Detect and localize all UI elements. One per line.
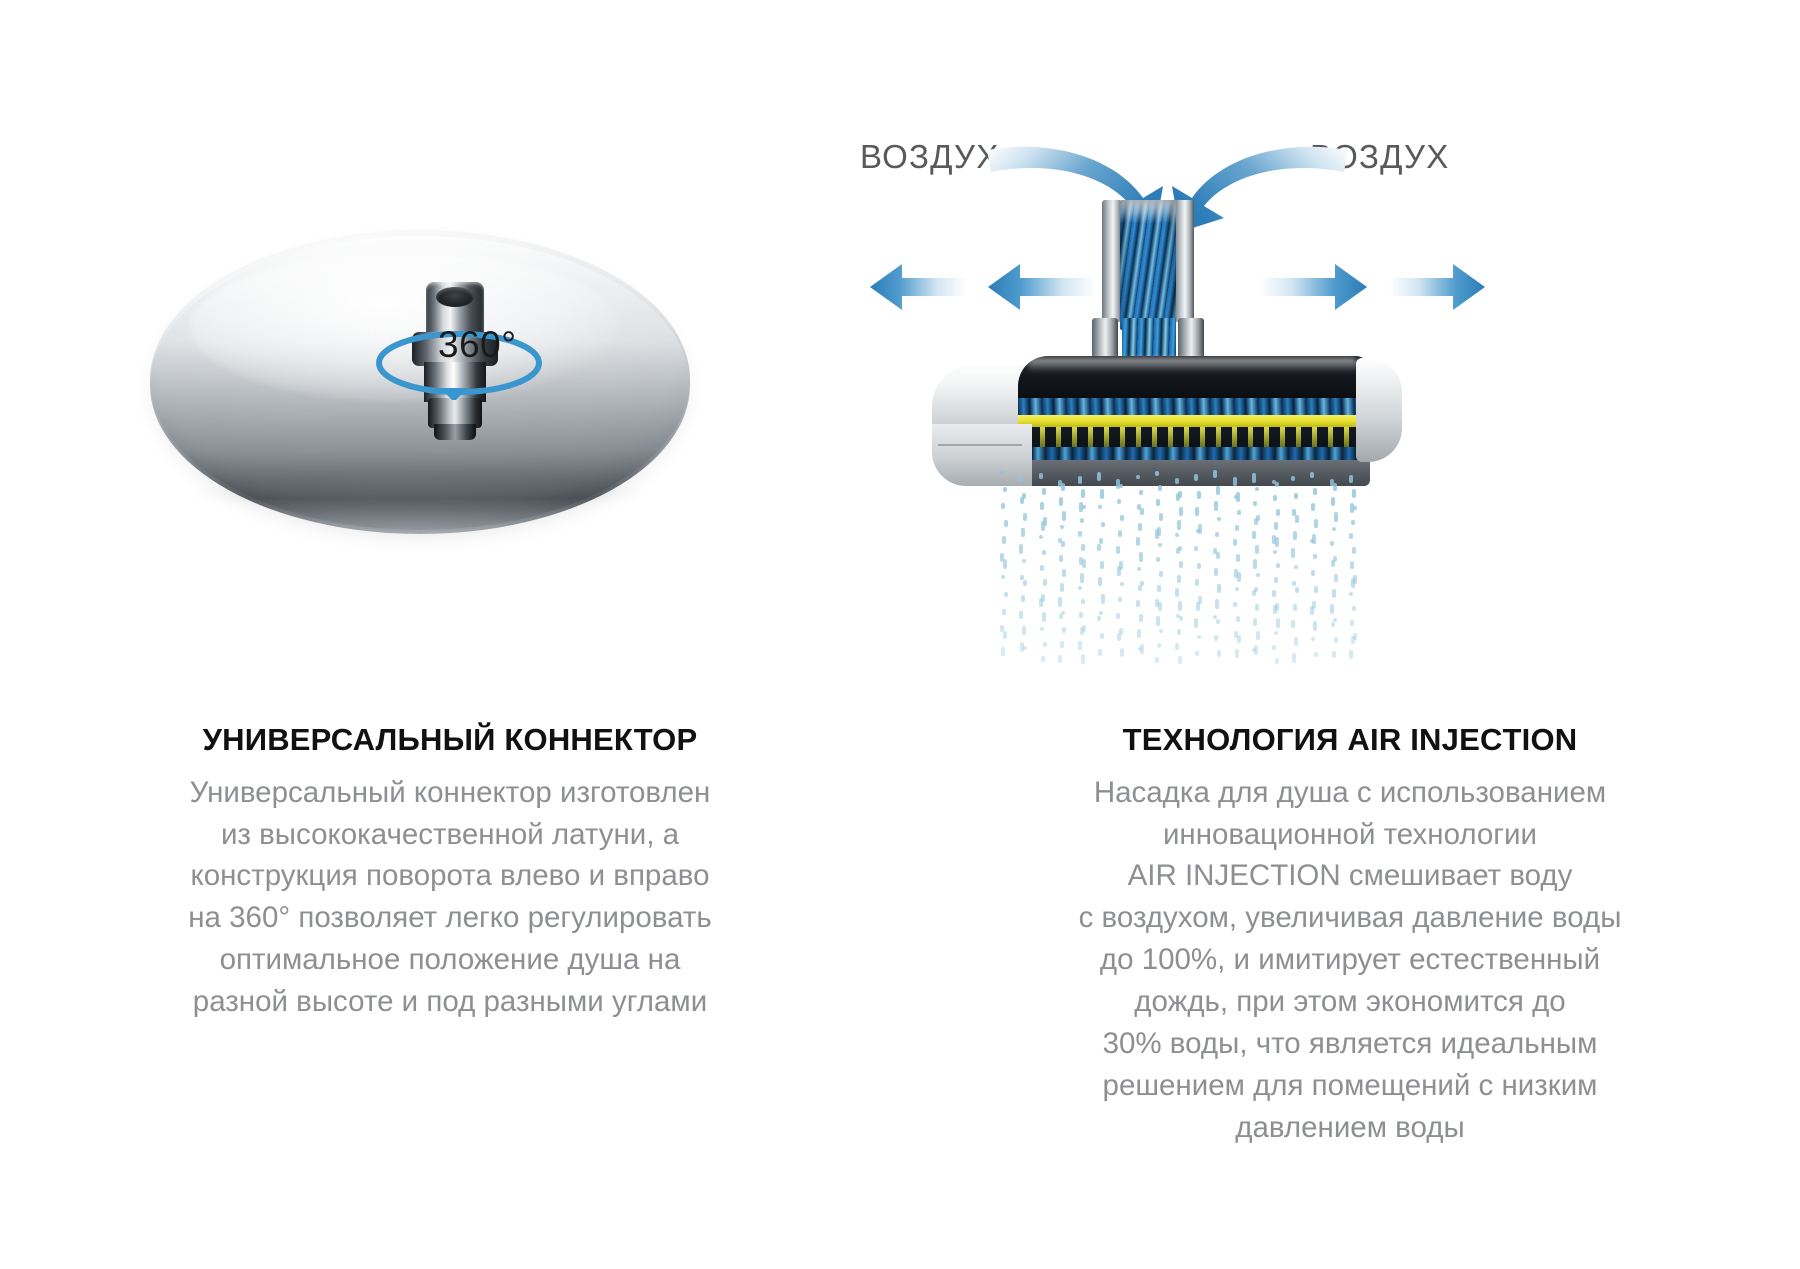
spray-droplet: [1314, 519, 1318, 528]
spray-droplet: [1292, 581, 1296, 586]
riser-water-core: [1120, 200, 1176, 330]
caption-line: разной высоте и под разными углами: [130, 981, 770, 1023]
spray-droplet: [1004, 592, 1008, 597]
spray-droplet: [1020, 497, 1024, 504]
spray-droplet: [1159, 571, 1163, 577]
spray-droplet: [1313, 488, 1317, 495]
spray-column: [1213, 470, 1222, 670]
spray-droplet: [1256, 573, 1260, 577]
spray-droplet: [1291, 476, 1295, 481]
spray-droplet: [1156, 557, 1160, 562]
spray-droplet: [1217, 517, 1221, 521]
spray-droplet: [1252, 473, 1256, 483]
spray-droplet: [1062, 627, 1066, 633]
spray-droplet: [1101, 594, 1105, 604]
spray-droplet: [1331, 622, 1335, 627]
spray-droplet: [1334, 637, 1338, 643]
spray-droplet: [1179, 561, 1183, 568]
spray-droplet: [1157, 585, 1161, 592]
spray-droplet: [1041, 521, 1045, 531]
spray-droplet: [1331, 560, 1335, 567]
spray-droplet: [1274, 577, 1278, 583]
spray-column: [1058, 470, 1067, 670]
spray-droplet: [1213, 470, 1217, 478]
spray-droplet: [1039, 598, 1043, 607]
spray-droplet: [1195, 651, 1199, 656]
spray-droplet: [1216, 486, 1220, 495]
spray-droplet: [1178, 601, 1182, 611]
spray-droplet: [1019, 477, 1023, 482]
spray-droplet: [1021, 528, 1025, 537]
side-arrows-right-icon: [1255, 258, 1485, 321]
spray-droplet: [1294, 493, 1298, 499]
spray-column: [1291, 470, 1300, 670]
spray-droplet: [1194, 618, 1198, 628]
spray-droplet: [1256, 631, 1260, 640]
spray-droplet: [1098, 649, 1102, 656]
spray-droplet: [1081, 544, 1085, 551]
spray-droplet: [1310, 472, 1314, 478]
spray-droplet: [1003, 631, 1007, 639]
spray-droplet: [1139, 552, 1143, 562]
spray-column: [1000, 470, 1009, 670]
spray-droplet: [1255, 604, 1259, 611]
water-spray: [996, 470, 1368, 670]
spray-droplet: [1275, 482, 1279, 487]
spray-droplet: [1351, 520, 1355, 525]
caption-line: инновационной технологии: [1020, 814, 1680, 856]
body-outer-shell-right: [1356, 358, 1402, 462]
caption-line: Насадка для душа с использованием: [1020, 772, 1680, 814]
spray-droplet: [1177, 575, 1181, 583]
spray-droplet: [1352, 606, 1356, 611]
spray-droplet: [1136, 600, 1140, 607]
spray-droplet: [1177, 520, 1181, 530]
caption-line: решением для помещений с низким: [1020, 1065, 1680, 1107]
spray-droplet: [1117, 566, 1121, 576]
spray-droplet: [1078, 476, 1082, 484]
side-arrows-left-icon: [870, 258, 1100, 321]
spray-droplet: [1120, 648, 1124, 657]
spray-droplet: [1060, 525, 1064, 529]
spray-droplet: [1019, 611, 1023, 619]
spray-droplet: [1078, 586, 1082, 590]
spray-droplet: [1059, 614, 1063, 619]
spray-droplet: [1351, 578, 1355, 588]
spray-droplet: [1156, 499, 1160, 506]
spray-droplet: [1177, 629, 1181, 635]
mixing-chamber-riser: [1102, 200, 1194, 358]
spray-droplet: [1332, 651, 1336, 658]
spray-droplet: [1255, 545, 1259, 554]
spray-droplet: [1100, 561, 1104, 569]
spray-droplet: [1061, 483, 1065, 491]
spray-droplet: [1237, 635, 1241, 643]
spray-droplet: [1214, 501, 1218, 511]
spray-droplet: [1080, 627, 1084, 635]
spray-droplet: [1175, 588, 1179, 597]
shower-head-cutaway: [932, 352, 1370, 472]
spray-droplet: [1216, 619, 1220, 624]
spray-droplet: [1000, 470, 1004, 474]
spray-droplet: [1350, 561, 1354, 569]
spray-droplet: [1097, 616, 1101, 621]
spray-droplet: [1274, 631, 1278, 635]
spray-droplet: [1002, 609, 1006, 615]
spray-droplet: [1233, 539, 1237, 546]
panel-universal-connector: 360° УНИВЕРСАЛЬНЫЙ КОННЕКТОР Универсальн…: [0, 0, 900, 1269]
spray-droplet: [1043, 642, 1047, 647]
spray-droplet: [1275, 537, 1279, 547]
spray-droplet: [1349, 475, 1353, 483]
spray-droplet: [1332, 589, 1336, 598]
spray-droplet: [1273, 605, 1277, 614]
spray-droplet: [1293, 604, 1297, 611]
spray-droplet: [1272, 645, 1276, 650]
air-label-left: ВОЗДУХ: [860, 138, 999, 176]
spray-droplet: [1313, 554, 1317, 559]
spray-column: [1136, 470, 1145, 670]
spray-droplet: [1100, 633, 1104, 639]
chrome-shower-disc: 360°: [150, 230, 690, 560]
spray-droplet: [1139, 614, 1143, 622]
spray-droplet: [1176, 493, 1180, 501]
spray-droplet: [1252, 531, 1256, 539]
spray-droplet: [1350, 620, 1354, 626]
caption-line: 30% воды, что является идеальным: [1020, 1023, 1680, 1065]
spray-droplet: [1001, 503, 1005, 509]
spray-droplet: [1352, 489, 1356, 498]
spray-droplet: [1352, 547, 1356, 554]
spray-droplet: [1333, 483, 1337, 491]
spray-column: [1252, 470, 1261, 670]
spray-droplet: [1294, 565, 1298, 569]
spray-droplet: [1078, 641, 1082, 650]
spray-droplet: [1023, 646, 1027, 650]
spray-droplet: [1137, 567, 1141, 571]
spray-droplet: [1291, 620, 1295, 628]
spray-droplet: [1100, 489, 1104, 499]
spray-droplet: [1293, 531, 1297, 540]
spray-droplet: [1311, 637, 1315, 641]
spray-droplet: [1118, 597, 1122, 602]
spray-droplet: [1058, 597, 1062, 607]
spray-droplet: [1276, 563, 1280, 568]
figure-air-injection: ВОЗДУХ ВОЗДУХ: [900, 0, 1800, 700]
caption-line: конструкция поворота влево и вправо: [130, 855, 770, 897]
spray-droplet: [1158, 543, 1162, 547]
spray-droplet: [1082, 505, 1086, 509]
spray-column: [1175, 470, 1184, 670]
spray-droplet: [1098, 577, 1102, 586]
spray-column: [1233, 470, 1242, 670]
spray-droplet: [1158, 485, 1162, 491]
spray-droplet: [1349, 592, 1353, 596]
spray-column: [1349, 470, 1358, 670]
spray-droplet: [1314, 586, 1318, 593]
spray-droplet: [1214, 568, 1218, 576]
spray-droplet: [1039, 473, 1043, 479]
spray-droplet: [1120, 515, 1124, 521]
spray-droplet: [1235, 649, 1239, 658]
spray-droplet: [1176, 548, 1180, 554]
spray-droplet: [1331, 497, 1335, 506]
spray-droplet: [1058, 655, 1062, 663]
spray-droplet: [1253, 501, 1257, 506]
spray-droplet: [1332, 527, 1336, 531]
caption-air-injection: ТЕХНОЛОГИЯ AIR INJECTION Насадка для душ…: [900, 722, 1800, 1149]
spray-droplet: [1274, 522, 1278, 530]
spray-droplet: [1237, 572, 1241, 582]
spray-droplet: [1295, 587, 1299, 593]
caption-line: AIR INJECTION смешивает воду: [1020, 855, 1680, 897]
spray-droplet: [1295, 515, 1299, 523]
spray-droplet: [1080, 518, 1084, 523]
caption-title-air-injection: ТЕХНОЛОГИЯ AIR INJECTION: [900, 722, 1800, 758]
caption-body-universal-connector: Универсальный коннектор изготовлен из вы…: [130, 772, 770, 1023]
spray-droplet: [1237, 510, 1241, 515]
spray-droplet: [1334, 512, 1338, 522]
spray-droplet: [1158, 602, 1162, 611]
spray-droplet: [1060, 583, 1064, 592]
spray-droplet: [1197, 635, 1201, 639]
spray-droplet: [1233, 602, 1237, 607]
spray-droplet: [1197, 563, 1201, 569]
spray-droplet: [1252, 590, 1256, 596]
spray-droplet: [1022, 626, 1026, 635]
spray-droplet: [1215, 532, 1219, 537]
spray-droplet: [1079, 612, 1083, 618]
spray-droplet: [1116, 613, 1120, 619]
spray-droplet: [1059, 555, 1063, 562]
spray-droplet: [1039, 535, 1043, 539]
spray-column: [1097, 470, 1106, 670]
spray-droplet: [1117, 633, 1121, 641]
spray-droplet: [1120, 582, 1124, 586]
spray-droplet: [1138, 523, 1142, 531]
spray-droplet: [1194, 474, 1198, 481]
spray-droplet: [1216, 552, 1220, 559]
spray-droplet: [1159, 629, 1163, 633]
spray-droplet: [1004, 520, 1008, 527]
spray-droplet: [1001, 647, 1005, 656]
caption-line: давлением воды: [1020, 1107, 1680, 1149]
connector-bore: [436, 287, 474, 307]
spray-droplet: [1175, 533, 1179, 537]
spray-droplet: [1155, 529, 1159, 539]
spray-droplet: [1196, 602, 1200, 611]
spray-droplet: [1330, 541, 1334, 546]
spray-droplet: [1138, 585, 1142, 591]
caption-line: с воздухом, увеличивая давление воды: [1020, 897, 1680, 939]
riser-shell-left: [1102, 200, 1122, 322]
spray-droplet: [1255, 487, 1259, 491]
spray-droplet: [1272, 590, 1276, 597]
spray-droplet: [1217, 650, 1221, 657]
spray-droplet: [1310, 606, 1314, 615]
body-seam-line: [938, 444, 1022, 446]
panel-air-injection: ВОЗДУХ ВОЗДУХ: [900, 0, 1800, 1269]
spray-droplet: [1156, 616, 1160, 626]
spray-droplet: [1311, 503, 1315, 511]
spray-droplet: [1197, 491, 1201, 499]
spray-column: [1194, 470, 1203, 670]
spray-droplet: [1062, 511, 1066, 521]
spray-droplet: [1061, 541, 1065, 547]
rotation-degree-label: 360°: [438, 324, 517, 366]
spray-droplet: [1236, 554, 1240, 562]
spray-droplet: [1214, 635, 1218, 641]
caption-line: оптимальное положение душа на: [130, 939, 770, 981]
spray-droplet: [1003, 487, 1007, 492]
spray-droplet: [1021, 595, 1025, 602]
spray-droplet: [1041, 656, 1045, 662]
spray-droplet: [1137, 629, 1141, 638]
spray-droplet: [1159, 513, 1163, 521]
spray-droplet: [1175, 643, 1179, 650]
spray-droplet: [1042, 612, 1046, 622]
connector-base: [434, 424, 476, 440]
spray-droplet: [1351, 636, 1355, 644]
spray-droplet: [1059, 497, 1063, 506]
spray-droplet: [1276, 509, 1280, 516]
spray-droplet: [1330, 604, 1334, 614]
spray-droplet: [1078, 531, 1082, 537]
spray-droplet: [1213, 615, 1217, 619]
spray-droplet: [1081, 654, 1085, 664]
spray-droplet: [1313, 621, 1317, 631]
spray-droplet: [1117, 499, 1121, 504]
spray-droplet: [1349, 650, 1353, 659]
spray-droplet: [1233, 477, 1237, 486]
caption-title-universal-connector: УНИВЕРСАЛЬНЫЙ КОННЕКТОР: [0, 722, 900, 758]
spray-droplet: [1040, 565, 1044, 571]
spray-droplet: [1155, 657, 1159, 663]
spray-droplet: [1179, 616, 1183, 621]
spray-droplet: [1119, 484, 1123, 488]
caption-body-air-injection: Насадка для душа с использованием иннова…: [1020, 772, 1680, 1149]
spray-droplet: [1291, 548, 1295, 558]
spray-droplet: [1235, 587, 1239, 591]
caption-line: из высококачественной латуни, а: [130, 814, 770, 856]
spray-droplet: [1254, 518, 1258, 525]
spray-droplet: [1195, 507, 1199, 516]
caption-line: до 100%, и имитирует естественный: [1020, 939, 1680, 981]
spray-droplet: [1175, 478, 1179, 484]
spray-droplet: [1040, 502, 1044, 510]
spray-column: [1155, 470, 1164, 670]
spray-droplet: [1217, 584, 1221, 593]
spray-droplet: [1136, 537, 1140, 546]
spray-droplet: [1040, 627, 1044, 631]
spray-droplet: [1081, 489, 1085, 498]
infographic-page: 360° УНИВЕРСАЛЬНЫЙ КОННЕКТОР Универсальн…: [0, 0, 1800, 1269]
spray-droplet: [1157, 643, 1161, 648]
spray-droplet: [1140, 508, 1144, 515]
spray-droplet: [1155, 471, 1159, 476]
spray-droplet: [1139, 490, 1143, 495]
spray-droplet: [1235, 525, 1239, 531]
spray-droplet: [1019, 544, 1023, 554]
spray-droplet: [1099, 611, 1103, 615]
disc-shadow: [184, 476, 654, 510]
caption-line: Универсальный коннектор изготовлен: [130, 772, 770, 814]
spray-droplet: [1002, 536, 1006, 544]
spray-droplet: [1080, 573, 1084, 583]
spray-droplet: [1334, 574, 1338, 582]
spray-droplet: [1062, 569, 1066, 577]
spray-droplet: [1215, 599, 1219, 609]
spray-droplet: [1311, 570, 1315, 576]
spray-column: [1272, 470, 1281, 670]
spray-column: [1039, 470, 1048, 670]
spray-droplet: [1082, 559, 1086, 568]
spray-column: [1330, 470, 1339, 670]
spray-droplet: [1314, 652, 1318, 657]
spray-droplet: [1294, 637, 1298, 646]
spray-droplet: [1194, 546, 1198, 551]
spray-droplet: [1042, 550, 1046, 555]
spray-droplet: [1236, 616, 1240, 622]
figure-universal-connector: 360°: [0, 0, 900, 700]
spray-droplet: [1023, 580, 1027, 586]
caption-line: дождь, при этом экономится до: [1020, 981, 1680, 1023]
spray-droplet: [1001, 575, 1005, 579]
spray-droplet: [1116, 546, 1120, 554]
spray-droplet: [1081, 599, 1085, 604]
spray-droplet: [1023, 513, 1027, 521]
spray-droplet: [1273, 495, 1277, 501]
caption-line: на 360° позволяет легко регулировать: [130, 897, 770, 939]
spray-droplet: [1118, 530, 1122, 537]
spray-droplet: [1022, 559, 1026, 563]
body-top-gloss: [1028, 358, 1358, 372]
spray-droplet: [1292, 653, 1296, 663]
spray-droplet: [1273, 550, 1277, 554]
spray-column: [1019, 470, 1028, 670]
spray-column: [1310, 470, 1319, 670]
spray-droplet: [1003, 559, 1007, 569]
spray-droplet: [1195, 579, 1199, 586]
spray-droplet: [1276, 618, 1280, 628]
spray-droplet: [1042, 488, 1046, 495]
spray-droplet: [1179, 507, 1183, 516]
spray-droplet: [1353, 506, 1357, 510]
spray-droplet: [1097, 472, 1101, 481]
spray-droplet: [1349, 533, 1353, 539]
spray-column: [1116, 470, 1125, 670]
riser-shell-right: [1174, 200, 1194, 322]
spray-droplet: [1178, 656, 1182, 664]
spray-droplet: [1275, 658, 1279, 664]
air-injection-diagram: ВОЗДУХ ВОЗДУХ: [900, 0, 1800, 700]
spray-droplet: [1043, 579, 1047, 586]
spray-column: [1078, 470, 1087, 670]
spray-droplet: [1060, 641, 1064, 648]
spray-droplet: [1136, 475, 1140, 479]
spray-droplet: [1253, 618, 1257, 626]
spray-droplet: [1097, 544, 1101, 551]
caption-universal-connector: УНИВЕРСАЛЬНЫЙ КОННЕКТОР Универсальный ко…: [0, 722, 900, 1023]
spray-droplet: [1253, 559, 1257, 569]
spray-droplet: [1101, 522, 1105, 527]
spray-droplet: [1098, 505, 1102, 509]
